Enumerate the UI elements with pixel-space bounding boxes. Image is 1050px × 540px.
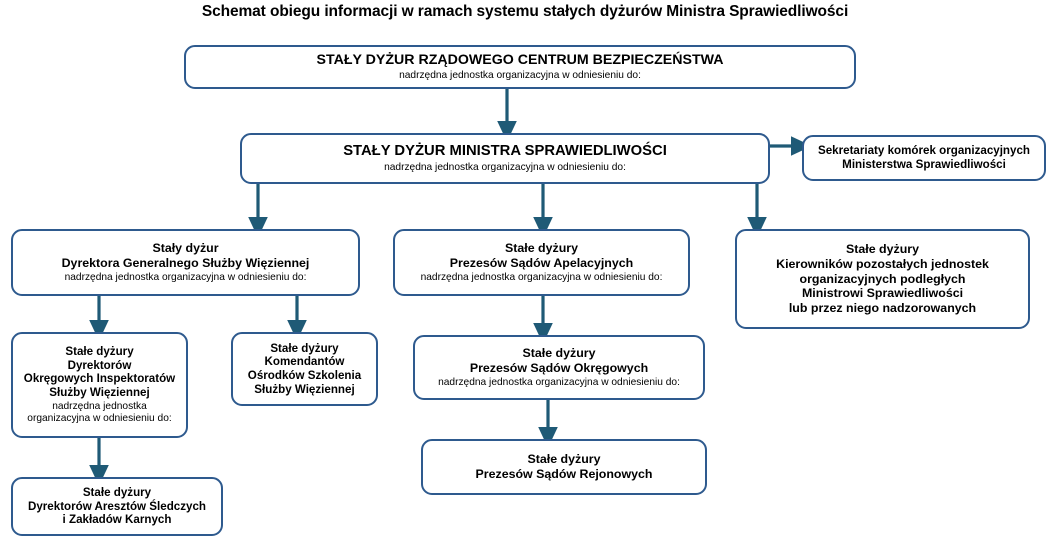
node-sady-apelacyjne[interactable]: Stałe dyżury Prezesów Sądów Apelacyjnych… — [393, 229, 690, 296]
node-sady-apelacyjne-heading: Stałe dyżury Prezesów Sądów Apelacyjnych — [450, 241, 633, 270]
node-okregowe-inspektoraty-heading: Stałe dyżury Dyrektorów Okręgowych Inspe… — [24, 345, 175, 400]
node-rcb-subtext: nadrzędna jednostka organizacyjna w odni… — [399, 70, 641, 82]
node-areszty-sledcze-heading: Stałe dyżury Dyrektorów Aresztów Śledczy… — [28, 486, 206, 527]
node-kierownicy-heading: Stałe dyżury Kierowników pozostałych jed… — [776, 242, 989, 315]
node-ministra-heading: STAŁY DYŻUR MINISTRA SPRAWIEDLIWOŚCI — [343, 143, 667, 160]
node-okregowe-inspektoraty[interactable]: Stałe dyżury Dyrektorów Okręgowych Inspe… — [11, 332, 188, 438]
node-ministra-subtext: nadrzędna jednostka organizacyjna w odni… — [384, 162, 626, 174]
node-okregowe-inspektoraty-subtext: nadrzędna jednostka organizacyjna w odni… — [27, 401, 171, 425]
node-kierownicy-jednostek[interactable]: Stałe dyżury Kierowników pozostałych jed… — [735, 229, 1030, 329]
node-ministra-sprawiedliwosci[interactable]: STAŁY DYŻUR MINISTRA SPRAWIEDLIWOŚCI nad… — [240, 133, 770, 184]
node-rcb[interactable]: STAŁY DYŻUR RZĄDOWEGO CENTRUM BEZPIECZEŃ… — [184, 45, 856, 89]
diagram-canvas: Schemat obiegu informacji w ramach syste… — [0, 0, 1050, 540]
page-title: Schemat obiegu informacji w ramach syste… — [0, 3, 1050, 21]
node-sady-okregowe-subtext: nadrzędna jednostka organizacyjna w odni… — [438, 377, 680, 389]
node-dyrektor-generalny[interactable]: Stały dyżur Dyrektora Generalnego Służby… — [11, 229, 360, 296]
node-dyrektor-generalny-heading: Stały dyżur Dyrektora Generalnego Służby… — [62, 241, 310, 270]
node-sekretariaty[interactable]: Sekretariaty komórek organizacyjnych Min… — [802, 135, 1046, 181]
node-areszty-sledcze[interactable]: Stałe dyżury Dyrektorów Aresztów Śledczy… — [11, 477, 223, 536]
node-osrodki-szkolenia[interactable]: Stałe dyżury Komendantów Ośrodków Szkole… — [231, 332, 378, 406]
node-sady-apelacyjne-subtext: nadrzędna jednostka organizacyjna w odni… — [421, 272, 663, 284]
node-sady-rejonowe[interactable]: Stałe dyżury Prezesów Sądów Rejonowych — [421, 439, 707, 495]
node-sady-okregowe[interactable]: Stałe dyżury Prezesów Sądów Okręgowych n… — [413, 335, 705, 400]
node-sekretariaty-heading: Sekretariaty komórek organizacyjnych Min… — [818, 144, 1030, 171]
node-sady-okregowe-heading: Stałe dyżury Prezesów Sądów Okręgowych — [470, 346, 648, 375]
node-dyrektor-generalny-subtext: nadrzędna jednostka organizacyjna w odni… — [65, 272, 307, 284]
node-sady-rejonowe-heading: Stałe dyżury Prezesów Sądów Rejonowych — [476, 452, 653, 481]
node-osrodki-szkolenia-heading: Stałe dyżury Komendantów Ośrodków Szkole… — [248, 342, 361, 397]
node-rcb-heading: STAŁY DYŻUR RZĄDOWEGO CENTRUM BEZPIECZEŃ… — [317, 52, 724, 69]
